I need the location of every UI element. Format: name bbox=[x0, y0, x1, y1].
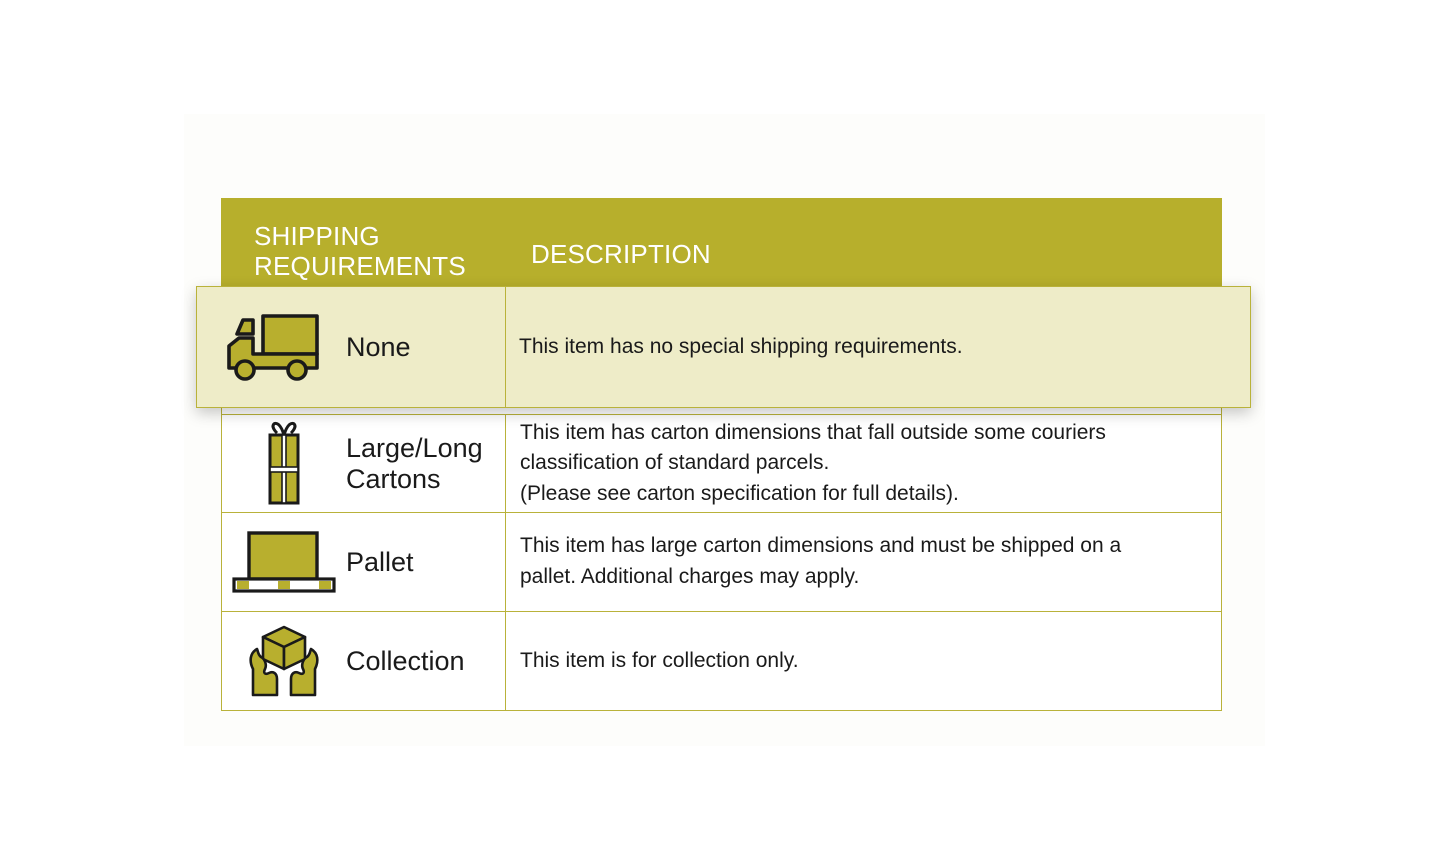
delivery-truck-icon bbox=[197, 312, 346, 382]
table-row[interactable]: Large/Long Cartons This item has carton … bbox=[222, 415, 1221, 513]
requirement-label: Collection bbox=[346, 646, 471, 677]
requirement-label: None bbox=[346, 332, 417, 363]
requirement-cell: None bbox=[197, 287, 506, 407]
tall-gift-carton-icon bbox=[222, 421, 346, 507]
description-text: This item is for collection only. bbox=[520, 646, 799, 677]
requirement-label: Pallet bbox=[346, 547, 420, 578]
column-header-description: DESCRIPTION bbox=[505, 198, 1222, 288]
description-text: This item has large carton dimensions an… bbox=[520, 531, 1121, 592]
description-cell: This item has carton dimensions that fal… bbox=[506, 415, 1221, 512]
pallet-box-icon bbox=[222, 531, 346, 593]
shipping-requirements-table: SHIPPING REQUIREMENTS DESCRIPTION bbox=[221, 198, 1222, 711]
table-row[interactable]: Pallet This item has large carton dimens… bbox=[222, 513, 1221, 612]
table-header-row: SHIPPING REQUIREMENTS DESCRIPTION bbox=[221, 198, 1222, 288]
description-cell: This item has no special shipping requir… bbox=[506, 287, 1250, 407]
description-text: This item has carton dimensions that fal… bbox=[520, 418, 1106, 510]
requirement-cell: Collection bbox=[222, 612, 506, 710]
table-row-highlighted[interactable]: None This item has no special shipping r… bbox=[196, 286, 1251, 408]
description-cell: This item is for collection only. bbox=[506, 612, 1221, 710]
requirement-cell: Large/Long Cartons bbox=[222, 415, 506, 512]
description-cell: This item has large carton dimensions an… bbox=[506, 513, 1221, 611]
column-header-shipping-requirements: SHIPPING REQUIREMENTS bbox=[221, 198, 505, 288]
requirement-label: Large/Long Cartons bbox=[346, 433, 489, 494]
table-row[interactable]: Collection This item is for collection o… bbox=[222, 612, 1221, 710]
hands-holding-box-icon bbox=[222, 623, 346, 699]
description-text: This item has no special shipping requir… bbox=[519, 332, 963, 363]
requirement-cell: Pallet bbox=[222, 513, 506, 611]
